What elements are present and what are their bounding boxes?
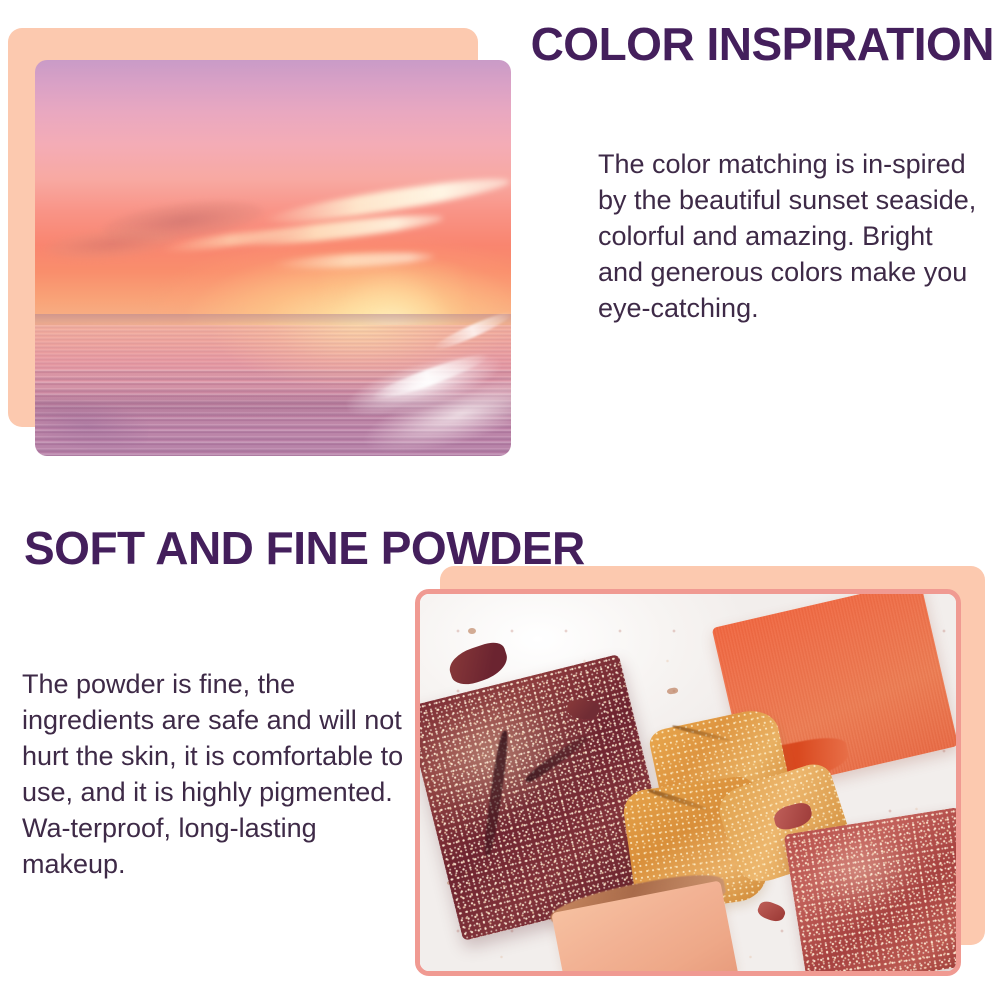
product-feature-page: COLOR INSPIRATION The color matching is … — [0, 0, 1000, 1000]
powder-photo-inner — [420, 594, 956, 971]
body-copy-soft-and-fine-powder: The powder is fine, the ingredients are … — [22, 666, 407, 882]
crushed-eyeshadow-photo — [415, 589, 961, 976]
powder-speck — [468, 628, 476, 634]
heading-color-inspiration: COLOR INSPIRATION — [531, 18, 994, 70]
sunset-seaside-photo — [35, 60, 511, 456]
rose-glitter-texture — [784, 807, 956, 971]
body-copy-color-inspiration: The color matching is in-spired by the b… — [598, 146, 983, 326]
sunset-photo-inner — [35, 60, 511, 456]
heading-soft-and-fine-powder: SOFT AND FINE POWDER — [24, 522, 585, 574]
rose-glitter-eyeshadow-pan — [784, 807, 956, 971]
